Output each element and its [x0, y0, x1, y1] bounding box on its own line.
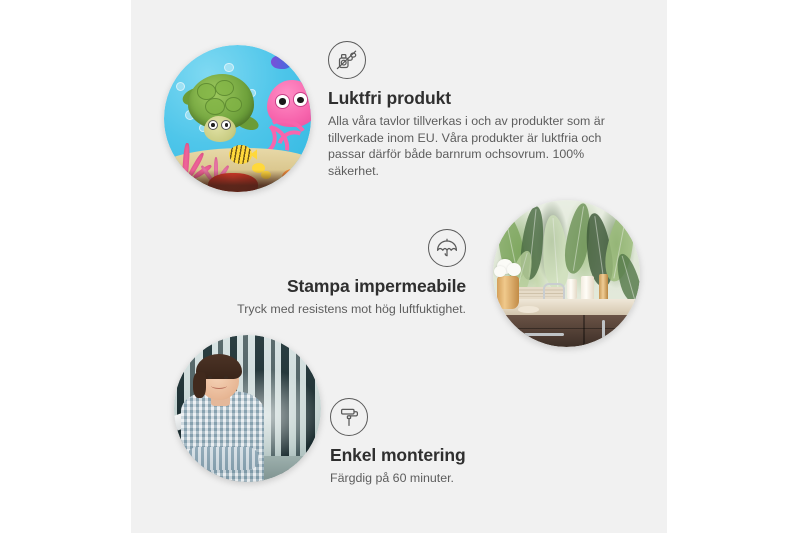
bubble-icon — [224, 63, 233, 72]
bathroom-tropical-wallpaper-photo[interactable] — [493, 200, 640, 347]
feature-easy-mounting: Enkel montering Färgdig på 60 minuter. — [330, 398, 580, 487]
feature-description: Alla våra tavlor tillverkas i och av pro… — [328, 113, 624, 179]
feature-description: Färgdig på 60 minuter. — [330, 470, 580, 487]
white-flowers — [493, 257, 527, 282]
blue-fish-icon — [271, 55, 292, 68]
woman-crossed-arms — [186, 447, 260, 471]
feature-title: Luktfri produkt — [328, 88, 624, 109]
turtle-head — [204, 116, 236, 142]
underwater-kids-wallpaper-photo[interactable] — [164, 45, 311, 192]
soap-dish — [518, 306, 539, 313]
content-panel: Luktfri produkt Alla våra tavlor tillver… — [131, 0, 667, 533]
soap-bottle — [567, 279, 577, 298]
striped-fish-icon — [229, 145, 253, 164]
umbrella-icon — [428, 229, 466, 267]
icon-row — [211, 229, 466, 267]
woman-paint-roller-forest-photo[interactable] — [174, 335, 321, 482]
icon-row — [330, 398, 580, 436]
paint-roller-icon — [330, 398, 368, 436]
feature-odourless: Luktfri produkt Alla våra tavlor tillver… — [328, 41, 624, 179]
woman-hair-side — [193, 372, 206, 398]
no-odour-perfume-icon — [328, 41, 366, 79]
icon-row — [328, 41, 624, 79]
feature-title: Enkel montering — [330, 445, 580, 466]
gold-bottle — [599, 274, 608, 302]
feature-description: Tryck med resistens mot hög luftfuktighe… — [211, 301, 466, 318]
screenshot-root: Luktfri produkt Alla våra tavlor tillver… — [0, 0, 800, 533]
faucet-icon — [543, 283, 565, 298]
feature-title: Stampa impermeabile — [211, 276, 466, 297]
feature-waterproof: Stampa impermeabile Tryck med resistens … — [211, 229, 466, 318]
wood-vanity-cabinet — [505, 315, 640, 347]
foreground-shadow — [164, 170, 311, 192]
